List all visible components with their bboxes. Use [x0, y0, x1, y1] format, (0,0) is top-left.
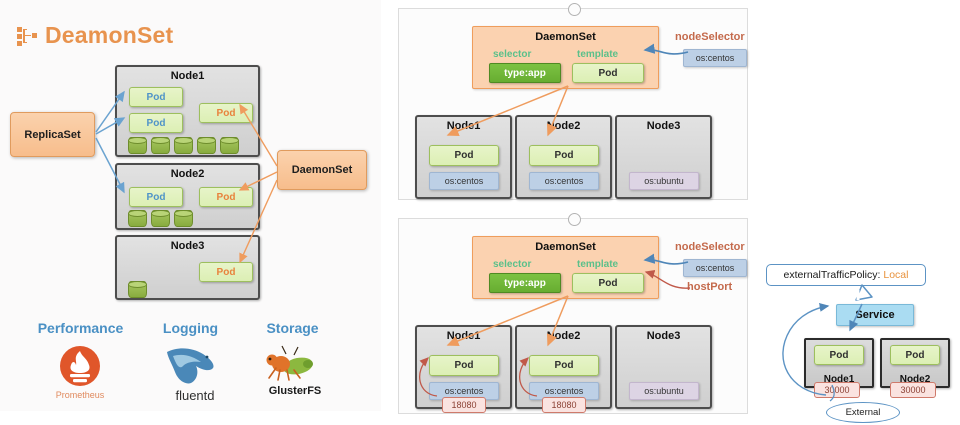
svc-node-box-node2[interactable]: Pod Node2: [880, 338, 950, 388]
annotation-hostport: hostPort: [687, 281, 732, 293]
node-box-node1[interactable]: Node1 Pod Pod Pod: [115, 65, 260, 157]
service-panel: externalTrafficPolicy: Local Service Pod…: [762, 260, 957, 420]
storage-cylinder-icon: [128, 137, 147, 154]
storage-cylinder-icon: [220, 137, 239, 154]
nodeport-value: 30000: [900, 385, 925, 395]
daemonset-title: DaemonSet: [473, 241, 658, 253]
node-box-node3[interactable]: Node3 os:ubuntu: [615, 115, 712, 199]
node-title: Node2: [117, 168, 258, 180]
node-title: Node3: [117, 240, 258, 252]
node-title: Node3: [617, 120, 710, 132]
node-box-node3[interactable]: Node3 os:ubuntu: [615, 325, 712, 409]
pod-box[interactable]: Pod: [529, 145, 599, 166]
pod-box-daemon[interactable]: Pod: [199, 187, 253, 207]
template-pod-box[interactable]: Pod: [572, 63, 644, 83]
node-title: Node2: [517, 120, 610, 132]
selector-label: selector: [493, 259, 531, 270]
nodeport-value: 30000: [824, 385, 849, 395]
nodeselector-value-box[interactable]: os:centos: [683, 49, 747, 67]
pod-box[interactable]: Pod: [129, 87, 183, 107]
storage-cylinder-icon: [174, 210, 193, 227]
daemonset-spec-box[interactable]: DaemonSet selector template type:app Pod: [472, 26, 659, 89]
annotation-nodeselector: nodeSelector: [675, 241, 745, 253]
os-label: os:centos: [445, 176, 484, 186]
os-label: os:centos: [545, 386, 584, 396]
nodeselector-value-box[interactable]: os:centos: [683, 259, 747, 277]
nodeport-badge-node1: 30000: [814, 382, 860, 398]
fluentd-bird-icon: [163, 342, 221, 386]
pod-label: Pod: [599, 278, 618, 289]
pod-label: Pod: [599, 68, 618, 79]
left-overview-panel: DeamonSet ReplicaSet DaemonSet Node1 Pod…: [0, 0, 381, 411]
pod-label: Pod: [147, 192, 166, 203]
tool-category-logging: Logging: [143, 320, 238, 336]
template-label: template: [577, 49, 618, 60]
diagram-panel-nodeselector: DaemonSet selector template type:app Pod…: [398, 8, 748, 200]
nodeselector-value: os:centos: [696, 263, 735, 273]
page-title-text: DeamonSet: [45, 22, 173, 49]
page-title: DeamonSet: [17, 22, 173, 49]
node-title: Node1: [417, 330, 510, 342]
prometheus-icon: [55, 345, 105, 390]
external-traffic-policy-callout[interactable]: externalTrafficPolicy: Local: [766, 264, 926, 286]
pod-label: Pod: [455, 360, 474, 371]
daemonset-box[interactable]: DaemonSet: [277, 150, 367, 190]
external-node[interactable]: External: [826, 402, 900, 423]
selector-value: type:app: [504, 68, 546, 79]
storage-cylinder-icon: [128, 210, 147, 227]
os-label: os:centos: [445, 386, 484, 396]
os-label: os:ubuntu: [644, 386, 684, 396]
node-box-node3[interactable]: Node3 Pod: [115, 235, 260, 300]
pod-label: Pod: [217, 192, 236, 203]
service-box[interactable]: Service: [836, 304, 914, 326]
panel-knob: [568, 3, 581, 16]
storage-cylinder-icon: [151, 210, 170, 227]
tool-category-performance: Performance: [18, 320, 143, 336]
selector-label: selector: [493, 49, 531, 60]
selector-value: type:app: [504, 278, 546, 289]
pod-box[interactable]: Pod: [814, 345, 864, 365]
node-title: Node3: [617, 330, 710, 342]
diagram-panel-hostport: DaemonSet selector template type:app Pod…: [398, 218, 748, 414]
os-label-box: os:ubuntu: [629, 172, 699, 190]
service-label: Service: [855, 309, 894, 321]
storage-cylinder-icon: [174, 137, 193, 154]
hostport-value: 18080: [451, 400, 476, 410]
pod-box[interactable]: Pod: [429, 355, 499, 376]
nodeselector-value: os:centos: [696, 53, 735, 63]
hierarchy-icon: [17, 26, 37, 46]
pod-box[interactable]: Pod: [429, 145, 499, 166]
template-label: template: [577, 259, 618, 270]
pod-box[interactable]: Pod: [890, 345, 940, 365]
daemonset-spec-box[interactable]: DaemonSet selector template type:app Pod: [472, 236, 659, 299]
node-title: Node1: [417, 120, 510, 132]
tool-category-storage: Storage: [245, 320, 340, 336]
node-title: Node1: [117, 70, 258, 82]
pod-label: Pod: [455, 150, 474, 161]
os-label: os:ubuntu: [644, 176, 684, 186]
svc-node-box-node1[interactable]: Pod Node1: [804, 338, 874, 388]
tool-name-fluentd: fluentd: [150, 388, 240, 403]
slide-root: DeamonSet ReplicaSet DaemonSet Node1 Pod…: [0, 0, 960, 425]
pod-box-daemon[interactable]: Pod: [199, 262, 253, 282]
pod-label: Pod: [830, 350, 849, 361]
daemonset-title: DaemonSet: [473, 31, 658, 43]
nodeport-badge-node2: 30000: [890, 382, 936, 398]
template-pod-box[interactable]: Pod: [572, 273, 644, 293]
replicaset-label: ReplicaSet: [24, 129, 80, 141]
hostport-badge-node2: 18080: [542, 397, 586, 413]
pod-box-daemon[interactable]: Pod: [199, 103, 253, 123]
hostport-badge-node1: 18080: [442, 397, 486, 413]
tool-name-prometheus: Prometheus: [40, 390, 120, 400]
os-label-box: os:centos: [529, 172, 599, 190]
callout-value: Local: [883, 269, 908, 281]
pod-box[interactable]: Pod: [129, 113, 183, 133]
node-box-node2[interactable]: Node2 Pod os:centos: [515, 115, 612, 199]
os-label: os:centos: [545, 176, 584, 186]
panel-knob: [568, 213, 581, 226]
pod-label: Pod: [217, 267, 236, 278]
pod-label: Pod: [555, 360, 574, 371]
annotation-nodeselector: nodeSelector: [675, 31, 745, 43]
selector-value-box[interactable]: type:app: [489, 63, 561, 83]
os-label-box: os:centos: [429, 172, 499, 190]
pod-label: Pod: [147, 92, 166, 103]
node-box-node2[interactable]: Node2 Pod Pod: [115, 163, 260, 230]
pod-label: Pod: [555, 150, 574, 161]
replicaset-box[interactable]: ReplicaSet: [10, 112, 95, 157]
daemonset-label: DaemonSet: [292, 164, 353, 176]
pod-box[interactable]: Pod: [129, 187, 183, 207]
storage-cylinder-icon: [197, 137, 216, 154]
storage-cylinder-icon: [128, 281, 147, 298]
storage-cylinder-icon: [151, 137, 170, 154]
glusterfs-ant-icon: [258, 342, 320, 386]
pod-label: Pod: [906, 350, 925, 361]
pod-box[interactable]: Pod: [529, 355, 599, 376]
node-box-node1[interactable]: Node1 Pod os:centos: [415, 115, 512, 199]
tool-name-glusterfs: GlusterFS: [250, 385, 340, 397]
callout-key: externalTrafficPolicy:: [784, 269, 881, 281]
selector-value-box[interactable]: type:app: [489, 273, 561, 293]
os-label-box: os:ubuntu: [629, 382, 699, 400]
pod-label: Pod: [147, 118, 166, 129]
hostport-value: 18080: [551, 400, 576, 410]
pod-label: Pod: [217, 108, 236, 119]
node-title: Node2: [517, 330, 610, 342]
external-label: External: [846, 407, 881, 418]
